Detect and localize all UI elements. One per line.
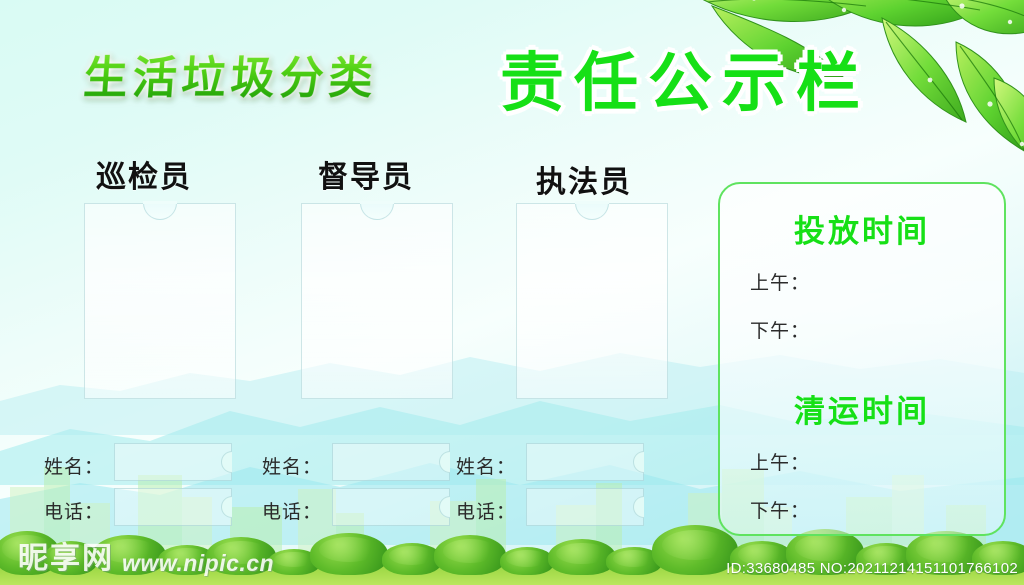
frame-notch (575, 203, 609, 220)
role-heading-enforcer: 执法员 (536, 157, 632, 201)
photo-frame-inspector[interactable] (84, 203, 236, 399)
title-row: 生活垃圾分类 责任公示栏 (0, 38, 1024, 116)
name-label-inspector: 姓名： (44, 452, 104, 479)
photo-frame-enforcer[interactable] (516, 203, 668, 399)
phone-input-inspector[interactable] (114, 488, 232, 526)
name-input-supervisor[interactable] (332, 443, 450, 481)
phone-label-supervisor: 电话： (262, 497, 322, 524)
watermark-site-url: www.nipic.cn (122, 550, 274, 577)
name-label-enforcer: 姓名： (456, 452, 516, 479)
poster-canvas: 生活垃圾分类 责任公示栏 巡检员 姓名： 电话： 督导员 姓名： 电话： 执法员… (0, 0, 1024, 585)
ticket-cut (439, 496, 450, 518)
watermark-site-name: 昵享网 (18, 533, 114, 577)
watermark-id: ID:33680485 NO:20211214151101766102 (726, 560, 1018, 577)
name-label-supervisor: 姓名： (262, 452, 322, 479)
role-heading-supervisor: 督导员 (318, 152, 414, 196)
role-heading-inspector: 巡检员 (96, 152, 192, 196)
frame-notch (360, 203, 394, 220)
poster-subtitle: 生活垃圾分类 (82, 42, 380, 106)
phone-label-enforcer: 电话： (456, 497, 516, 524)
page-title: 责任公示栏 (500, 32, 870, 124)
photo-frame-supervisor[interactable] (301, 203, 453, 399)
time-card: 投放时间 上午： 下午： 清运时间 上午： 下午： (718, 182, 1006, 536)
section-title-transport-time: 清运时间 (720, 386, 1004, 431)
ticket-cut (633, 451, 644, 473)
disposal-afternoon-label[interactable]: 下午： (750, 316, 810, 343)
name-input-inspector[interactable] (114, 443, 232, 481)
ticket-cut (633, 496, 644, 518)
watermark-left: 昵享网 www.nipic.cn (18, 533, 274, 577)
phone-label-inspector: 电话： (44, 497, 104, 524)
ticket-cut (221, 496, 232, 518)
phone-input-supervisor[interactable] (332, 488, 450, 526)
transport-morning-label[interactable]: 上午： (750, 448, 810, 475)
transport-afternoon-label[interactable]: 下午： (750, 496, 810, 523)
ticket-cut (221, 451, 232, 473)
section-title-disposal-time: 投放时间 (720, 206, 1004, 251)
frame-notch (143, 203, 177, 220)
disposal-morning-label[interactable]: 上午： (750, 268, 810, 295)
phone-input-enforcer[interactable] (526, 488, 644, 526)
ticket-cut (439, 451, 450, 473)
name-input-enforcer[interactable] (526, 443, 644, 481)
